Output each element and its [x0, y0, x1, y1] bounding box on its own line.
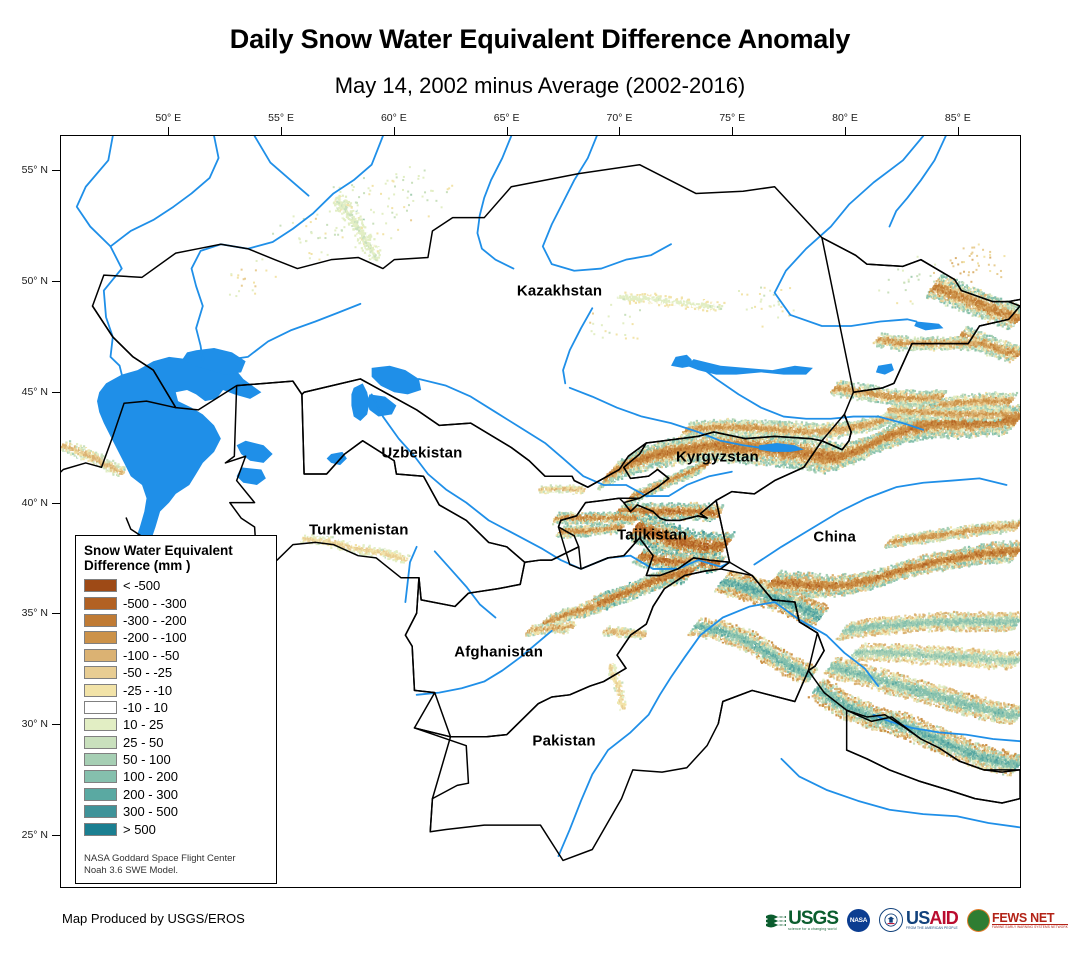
usaid-tagline: FROM THE AMERICAN PEOPLE: [906, 926, 958, 930]
legend-row: 200 - 300: [84, 786, 268, 803]
legend-row: -10 - 10: [84, 699, 268, 716]
usgs-wave-icon: [766, 913, 786, 928]
legend-label: -10 - 10: [123, 701, 168, 714]
lat-label-40: 40° N: [6, 497, 48, 509]
country-label-tajikistan: Tajikistan: [617, 526, 687, 543]
legend-label: < -500: [123, 579, 160, 592]
legend-label: -50 - -25: [123, 666, 172, 679]
country-label-kyrgyzstan: Kyrgyzstan: [676, 449, 759, 466]
country-label-kazakhstan: Kazakhstan: [517, 283, 602, 300]
usgs-tagline: science for a changing world: [788, 927, 838, 931]
map-page: Daily Snow Water Equivalent Difference A…: [0, 0, 1080, 960]
fews-globe-icon: [967, 909, 990, 932]
legend-label: 10 - 25: [123, 718, 163, 731]
legend-swatch: [84, 753, 117, 766]
lon-label-65: 65° E: [494, 112, 520, 124]
legend-swatch: [84, 805, 117, 818]
lon-label-50: 50° E: [155, 112, 181, 124]
fews-wordmark: FEWS NET: [992, 912, 1068, 925]
lat-label-35: 35° N: [6, 607, 48, 619]
legend-row: > 500: [84, 820, 268, 837]
legend-row: 300 - 500: [84, 803, 268, 820]
legend-row: -50 - -25: [84, 664, 268, 681]
lon-label-75: 75° E: [719, 112, 745, 124]
legend-label: -100 - -50: [123, 649, 179, 662]
legend-swatch: [84, 684, 117, 697]
usaid-logo[interactable]: USAID FROM THE AMERICAN PEOPLE: [879, 905, 958, 935]
lon-label-85: 85° E: [945, 112, 971, 124]
lat-label-50: 50° N: [6, 275, 48, 287]
legend-label: -25 - -10: [123, 684, 172, 697]
legend-title-line2: Difference (mm ): [84, 558, 268, 573]
legend-label: 50 - 100: [123, 753, 171, 766]
lon-label-80: 80° E: [832, 112, 858, 124]
page-subtitle: May 14, 2002 minus Average (2002-2016): [0, 73, 1080, 99]
lat-label-55: 55° N: [6, 164, 48, 176]
lon-label-60: 60° E: [381, 112, 407, 124]
legend-swatch: [84, 649, 117, 662]
legend-swatch: [84, 666, 117, 679]
legend-row: < -500: [84, 577, 268, 594]
usgs-wordmark: USGS: [788, 910, 838, 927]
map-credit: Map Produced by USGS/EROS: [62, 911, 245, 926]
lon-label-70: 70° E: [607, 112, 633, 124]
fews-tagline: FAMINE EARLY WARNING SYSTEMS NETWORK: [992, 925, 1068, 929]
legend-row: -200 - -100: [84, 629, 268, 646]
country-label-uzbekistan: Uzbekistan: [381, 444, 462, 461]
legend-label: -300 - -200: [123, 614, 187, 627]
legend-row: -300 - -200: [84, 612, 268, 629]
legend-swatch: [84, 631, 117, 644]
legend-swatch: [84, 718, 117, 731]
usgs-logo[interactable]: USGS science for a changing world: [766, 905, 838, 935]
legend-row: -100 - -50: [84, 647, 268, 664]
legend-label: 200 - 300: [123, 788, 178, 801]
legend-swatch: [84, 614, 117, 627]
country-label-pakistan: Pakistan: [532, 732, 595, 749]
nasa-meatball-icon: NASA: [847, 909, 870, 932]
legend-title-line1: Snow Water Equivalent: [84, 543, 268, 558]
legend-source-line1: NASA Goddard Space Flight Center: [84, 853, 236, 865]
page-title: Daily Snow Water Equivalent Difference A…: [0, 24, 1080, 55]
legend-swatch: [84, 701, 117, 714]
legend-label: -500 - -300: [123, 597, 187, 610]
usaid-seal-icon: [879, 908, 903, 932]
legend-swatch: [84, 736, 117, 749]
legend-source-line2: Noah 3.6 SWE Model.: [84, 865, 236, 877]
legend-source: NASA Goddard Space Flight Center Noah 3.…: [84, 853, 236, 877]
legend-label: > 500: [123, 823, 156, 836]
legend-swatch: [84, 770, 117, 783]
nasa-wordmark: NASA: [850, 917, 867, 924]
legend-panel[interactable]: Snow Water Equivalent Difference (mm ) <…: [75, 535, 277, 884]
legend-swatch: [84, 823, 117, 836]
legend-row: 50 - 100: [84, 751, 268, 768]
legend-label: -200 - -100: [123, 631, 187, 644]
country-label-china: China: [813, 528, 856, 545]
fews-net-logo[interactable]: FEWS NET FAMINE EARLY WARNING SYSTEMS NE…: [967, 905, 1068, 935]
legend-row: 100 - 200: [84, 768, 268, 785]
legend-swatch: [84, 579, 117, 592]
country-label-afghanistan: Afghanistan: [454, 644, 543, 661]
usaid-wordmark: USAID: [906, 910, 958, 926]
legend-row: 25 - 50: [84, 734, 268, 751]
country-label-turkmenistan: Turkmenistan: [309, 522, 409, 539]
lat-label-45: 45° N: [6, 386, 48, 398]
legend-row: -500 - -300: [84, 594, 268, 611]
usaid-eagle-icon: [884, 913, 898, 927]
legend-swatch: [84, 788, 117, 801]
agency-logos: USGS science for a changing world NASA U…: [766, 903, 1068, 937]
legend-swatch: [84, 597, 117, 610]
legend-label: 25 - 50: [123, 736, 163, 749]
lat-label-25: 25° N: [6, 829, 48, 841]
legend-label: 100 - 200: [123, 770, 178, 783]
legend-row: 10 - 25: [84, 716, 268, 733]
legend-row: -25 - -10: [84, 681, 268, 698]
legend-label: 300 - 500: [123, 805, 178, 818]
lat-label-30: 30° N: [6, 718, 48, 730]
nasa-logo[interactable]: NASA: [847, 905, 870, 935]
legend-class-list: < -500-500 - -300-300 - -200-200 - -100-…: [84, 577, 268, 838]
lon-label-55: 55° E: [268, 112, 294, 124]
